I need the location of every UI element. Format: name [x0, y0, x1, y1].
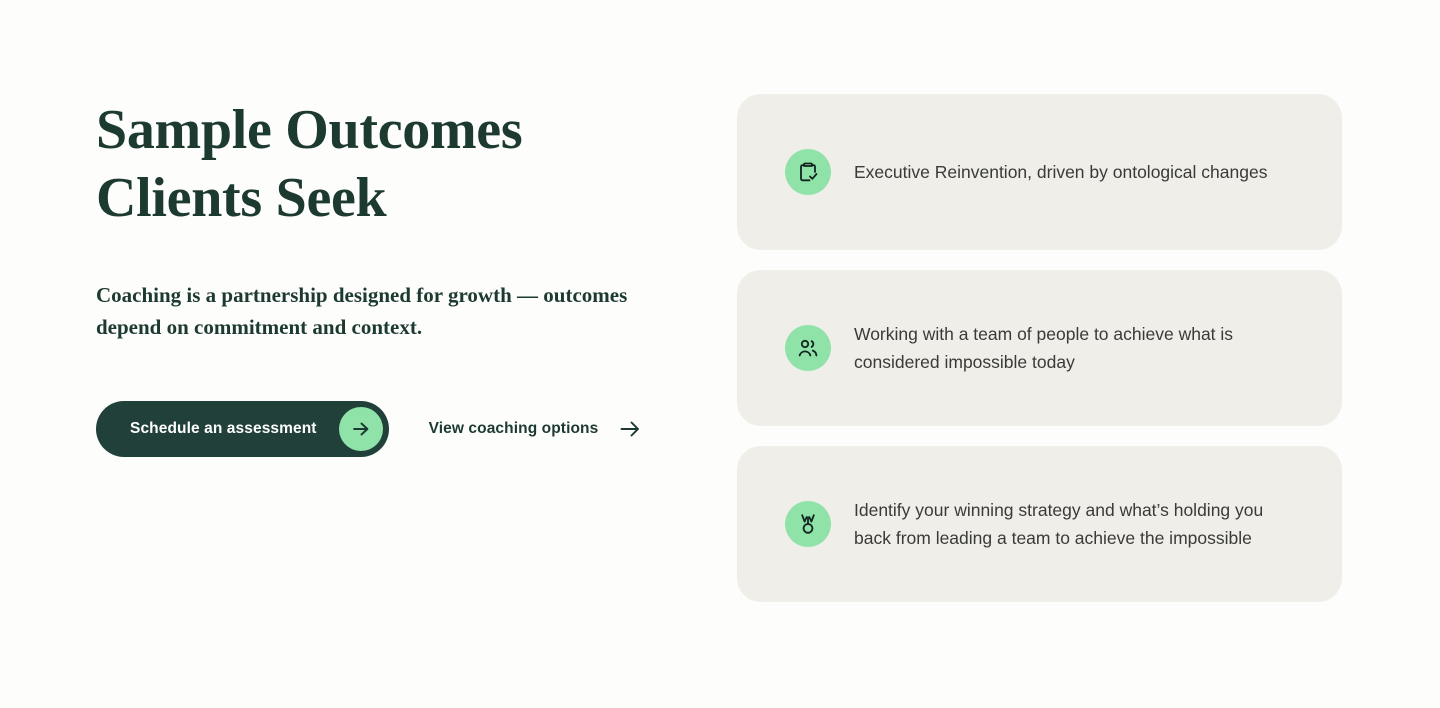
outcome-card-text: Working with a team of people to achieve…	[854, 320, 1284, 376]
medal-icon	[785, 501, 831, 547]
outcome-card[interactable]: Identify your winning strategy and what’…	[737, 446, 1342, 602]
schedule-assessment-button[interactable]: Schedule an assessment	[96, 401, 389, 457]
schedule-assessment-label: Schedule an assessment	[130, 420, 317, 438]
outcome-card[interactable]: Executive Reinvention, driven by ontolog…	[737, 94, 1342, 250]
outcome-card-text: Executive Reinvention, driven by ontolog…	[854, 158, 1267, 186]
arrow-right-icon	[339, 407, 383, 451]
arrow-right-icon	[618, 417, 642, 441]
page-title: Sample Outcomes Clients Seek	[96, 96, 566, 232]
outcome-card[interactable]: Working with a team of people to achieve…	[737, 270, 1342, 426]
outcome-card-list: Executive Reinvention, driven by ontolog…	[737, 94, 1342, 602]
outcomes-section: Sample Outcomes Clients Seek Coaching is…	[0, 0, 1440, 708]
cta-row: Schedule an assessment View coaching opt…	[96, 401, 676, 457]
users-icon	[785, 325, 831, 371]
clipboard-check-icon	[785, 149, 831, 195]
hero-content: Sample Outcomes Clients Seek Coaching is…	[96, 96, 676, 457]
view-coaching-options-label: View coaching options	[429, 420, 599, 438]
hero-subheadline: Coaching is a partnership designed for g…	[96, 279, 644, 343]
outcome-card-text: Identify your winning strategy and what’…	[854, 496, 1284, 552]
view-coaching-options-link[interactable]: View coaching options	[425, 401, 647, 457]
